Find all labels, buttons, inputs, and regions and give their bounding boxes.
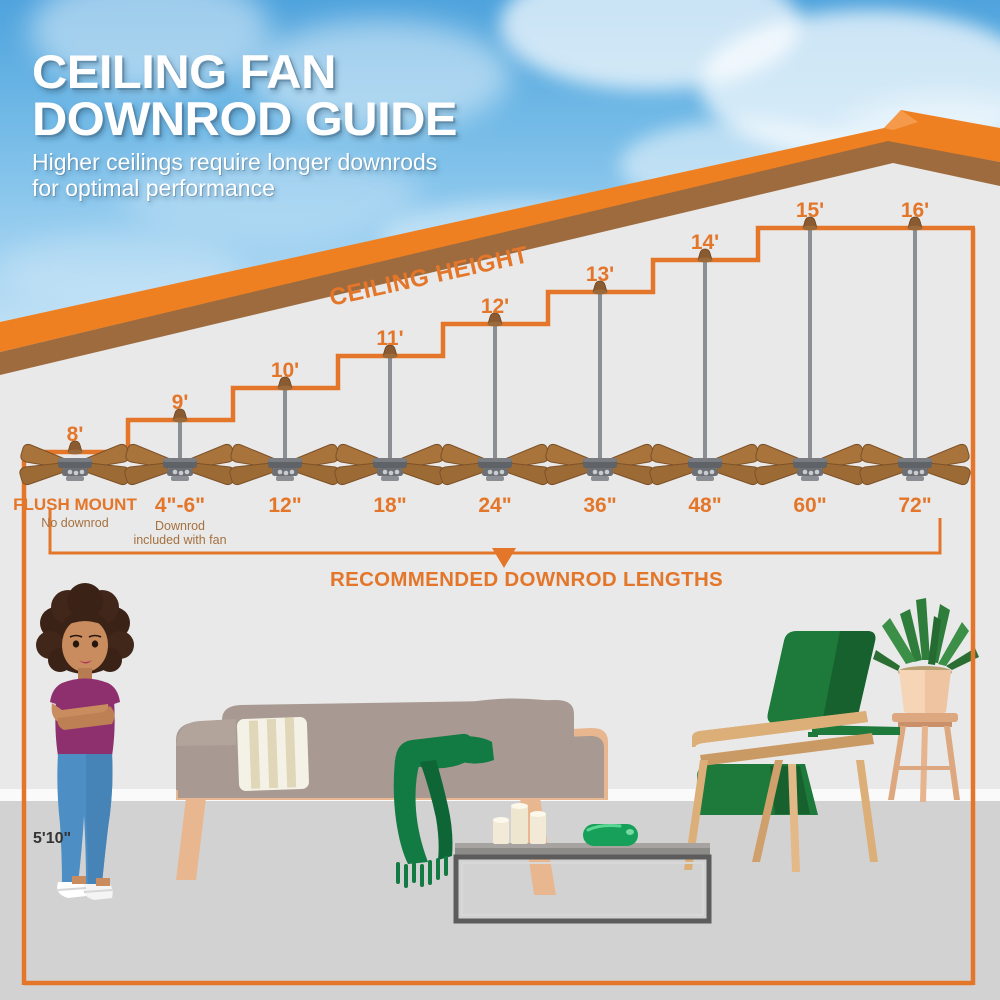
stand-leg-mid <box>920 726 928 802</box>
ceiling-label-8: 8' <box>67 423 84 447</box>
table-frame <box>456 857 709 921</box>
downrod-note-1: No downrod <box>13 516 137 530</box>
coffee-table-group <box>455 843 710 921</box>
subtitle-line-1: Higher ceilings require longer downrods <box>32 149 441 175</box>
subtitle-line-2: for optimal performance <box>32 175 441 201</box>
downrod-note-2b: included with fan <box>133 533 226 547</box>
person-height-label: 5'10" <box>33 830 71 848</box>
stand-leg-right <box>944 726 960 800</box>
throw-pillow <box>237 717 309 791</box>
downrod-label-8: 60" <box>793 494 826 518</box>
green-armchair-group <box>684 631 900 872</box>
stand-top <box>892 713 958 722</box>
downrod-label-3: 12" <box>268 494 301 518</box>
downrod-label-5: 24" <box>478 494 511 518</box>
downrod-value-1: FLUSH MOUNT <box>13 495 137 515</box>
plant-leaves <box>873 598 979 671</box>
ceiling-label-10: 10' <box>271 359 299 383</box>
sofa-leg-left <box>176 798 206 880</box>
downrod-label-4: 18" <box>373 494 406 518</box>
downrod-note-2a: Downrod <box>133 519 226 533</box>
infographic-canvas: CEILING FAN DOWNROD GUIDE Higher ceiling… <box>0 0 1000 1000</box>
downrod-label-1: FLUSH MOUNT No downrod <box>13 495 137 530</box>
ceiling-label-12: 12' <box>481 295 509 319</box>
plant-stand-group <box>873 598 979 802</box>
downrod-label-7: 48" <box>688 494 721 518</box>
ceiling-label-13: 13' <box>586 263 614 287</box>
chair-backrest <box>808 732 818 737</box>
sofa-group <box>176 698 608 895</box>
person-figure <box>36 583 134 900</box>
ceiling-label-11: 11' <box>376 327 403 351</box>
downrod-label-2: 4"-6" Downrod included with fan <box>133 494 226 547</box>
face <box>62 618 108 672</box>
stand-leg-left <box>888 726 906 800</box>
ceiling-label-14: 14' <box>691 231 719 255</box>
stand-crossbar <box>897 766 953 770</box>
downrod-value-2: 4"-6" <box>133 494 226 518</box>
title-block: CEILING FAN DOWNROD GUIDE Higher ceiling… <box>32 48 441 201</box>
green-bowl <box>583 824 638 846</box>
ceiling-label-15: 15' <box>796 199 824 223</box>
ceiling-label-16: 16' <box>901 199 929 223</box>
green-throw-blanket <box>394 734 494 888</box>
downrod-label-6: 36" <box>583 494 616 518</box>
ceiling-label-9: 9' <box>172 391 189 415</box>
title-line-2: DOWNROD GUIDE <box>32 95 457 142</box>
title-line-1: CEILING FAN <box>32 48 457 95</box>
recommended-downrod-label: RECOMMENDED DOWNROD LENGTHS <box>330 568 723 592</box>
downrod-label-9: 72" <box>898 494 931 518</box>
chair-leg-br <box>856 760 878 862</box>
